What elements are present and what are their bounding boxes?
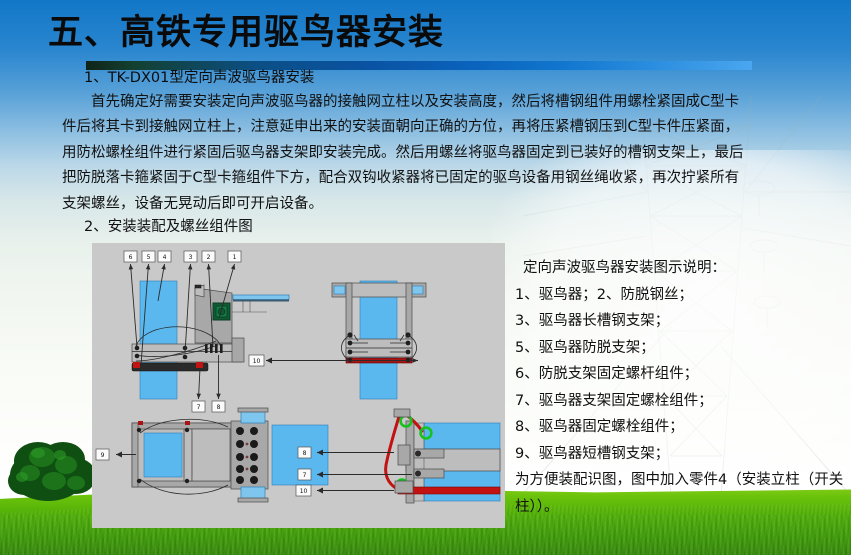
svg-text:4: 4 xyxy=(163,254,167,261)
paragraph-line: 首先确定好需要安装定向声波驱鸟器的接触网立柱以及安装高度，然后将槽钢组件用螺栓紧… xyxy=(62,90,744,115)
svg-text:1: 1 xyxy=(233,254,237,261)
svg-text:9: 9 xyxy=(101,452,105,459)
svg-text:2: 2 xyxy=(207,254,211,261)
section-2-heading: 2、安装装配及螺丝组件图 xyxy=(84,215,253,240)
legend-item: 6、防脱支架固定螺杆组件； xyxy=(515,361,845,388)
legend-item: 9、驱鸟器短槽钢支架； xyxy=(515,441,845,468)
paragraph-line: 支架螺丝，设备无晃动后即可开启设备。 xyxy=(62,192,744,217)
page-title: 五、高铁专用驱鸟器安装 xyxy=(48,14,444,53)
paragraph-line: 用防松螺栓组件进行紧固后驱鸟器支架即安装完成。然后用螺丝将驱鸟器固定到已装好的槽… xyxy=(62,141,744,166)
paragraph-line: 把防脱落卡箍紧固于C型卡箍组件下方，配合双钩收紧器将已固定的驱鸟设备用钢丝绳收紧… xyxy=(62,166,744,191)
legend-block: 定向声波驱鸟器安装图示说明： 1、驱鸟器；2、防脱钢丝； 3、驱鸟器长槽钢支架；… xyxy=(515,255,845,520)
svg-text:8: 8 xyxy=(217,404,221,411)
legend-item: 5、驱鸟器防脱支架； xyxy=(515,335,845,362)
svg-text:3: 3 xyxy=(189,254,193,261)
legend-heading: 定向声波驱鸟器安装图示说明： xyxy=(515,255,845,282)
legend-item: 7、驱鸟器支架固定螺栓组件； xyxy=(515,388,845,415)
legend-item: 1、驱鸟器；2、防脱钢丝； xyxy=(515,282,845,309)
svg-text:7: 7 xyxy=(303,472,307,479)
svg-text:6: 6 xyxy=(129,254,133,261)
section-1-heading: 1、TK-DX01型定向声波驱鸟器安装 xyxy=(84,66,314,91)
slide-canvas: 五、高铁专用驱鸟器安装 1、TK-DX01型定向声波驱鸟器安装 首先确定好需要安… xyxy=(0,0,851,555)
legend-item: 3、驱鸟器长槽钢支架； xyxy=(515,308,845,335)
paragraph-line: 件后将其卡到接触网立柱上，注意延申出来的安装面朝向正确的方位，再将压紧槽钢压到C… xyxy=(62,115,744,140)
svg-text:8: 8 xyxy=(303,450,307,457)
svg-text:5: 5 xyxy=(147,254,151,261)
legend-note: 为方便装配识图，图中加入零件4（安装立柱（开关柱））。 xyxy=(515,467,845,520)
legend-item: 8、驱鸟器固定螺栓组件； xyxy=(515,414,845,441)
svg-text:10: 10 xyxy=(300,488,308,495)
assembly-diagram-panel: .post{fill:#5bb8ef;stroke:#2c7fb8;stroke… xyxy=(92,243,505,528)
body-paragraph: 首先确定好需要安装定向声波驱鸟器的接触网立柱以及安装高度，然后将槽钢组件用螺栓紧… xyxy=(62,90,744,217)
svg-text:7: 7 xyxy=(197,404,201,411)
svg-text:10: 10 xyxy=(253,358,261,365)
callout-group-top: 6 5 4 3 2 1 xyxy=(124,251,241,262)
